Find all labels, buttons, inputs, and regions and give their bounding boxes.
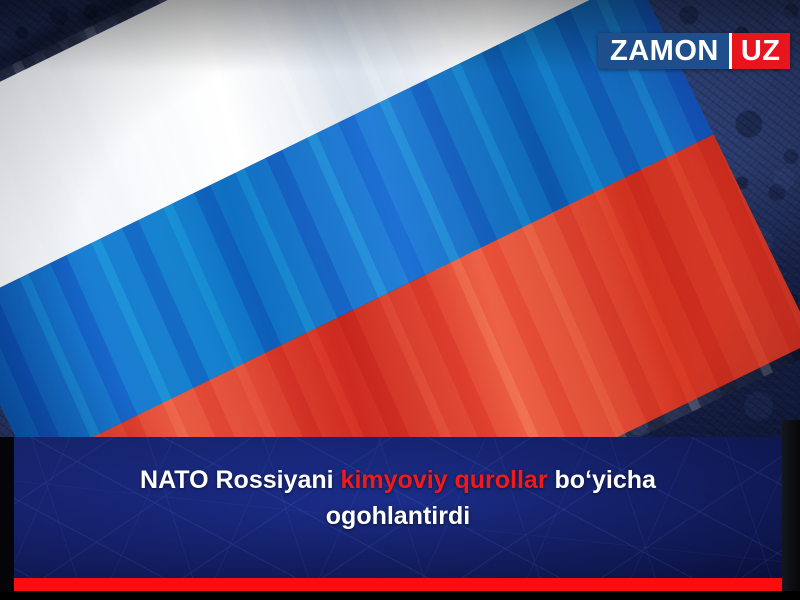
- right-edge-border: [782, 420, 800, 600]
- headline-highlight: kimyoviy qurollar: [341, 466, 548, 494]
- bottom-black-bar: [0, 591, 800, 600]
- headline-segment-pre: NATO Rossiyani: [140, 466, 341, 494]
- headline-caption-bar: NATO Rossiyani kimyoviy qurollar bo‘yich…: [14, 437, 782, 578]
- headline-segment-post: bo‘yicha: [548, 466, 656, 494]
- left-edge-border: [0, 437, 14, 600]
- red-accent-bar: [14, 578, 782, 591]
- zamon-uz-logo[interactable]: ZAMON UZ: [598, 33, 790, 69]
- logo-accent-text: UZ: [732, 33, 790, 69]
- headline-text: NATO Rossiyani kimyoviy qurollar bo‘yich…: [14, 437, 782, 534]
- logo-main-text: ZAMON: [598, 33, 729, 69]
- headline-line-two: ogohlantirdi: [326, 502, 470, 530]
- news-banner: ZAMON UZ NATO Rossiyani kimyoviy qurolla…: [0, 0, 800, 600]
